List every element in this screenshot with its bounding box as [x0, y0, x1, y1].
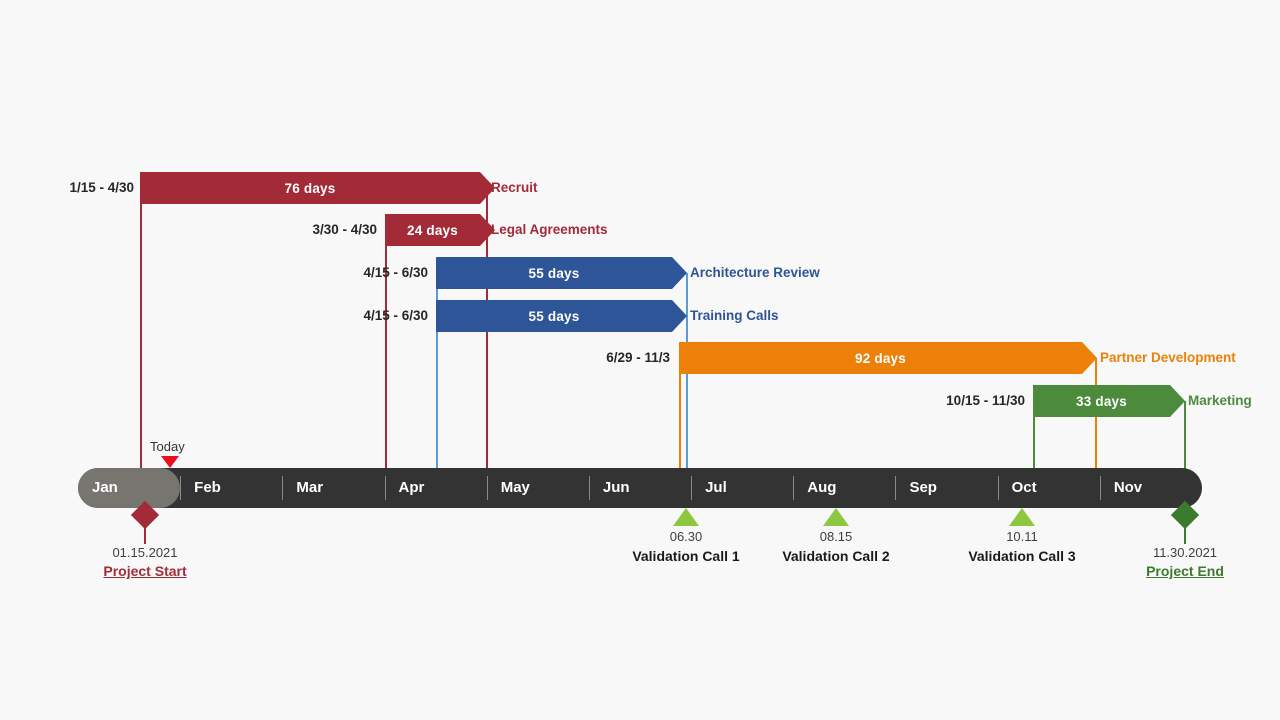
- milestone-triangle-icon: [673, 508, 699, 526]
- task-bar-arrow-icon: [1170, 385, 1185, 417]
- task-duration-label: 55 days: [529, 309, 580, 324]
- axis-month-feb[interactable]: Feb: [180, 468, 282, 508]
- task-duration-bar[interactable]: 55 days: [436, 300, 672, 332]
- task-duration-bar[interactable]: 92 days: [679, 342, 1082, 374]
- timeline-axis: JanFebMarAprMayJunJulAugSepOctNov: [78, 468, 1202, 508]
- axis-month-label: Apr: [399, 468, 425, 508]
- task-name-label: Recruit: [491, 172, 538, 204]
- gantt-chart-canvas: 1/15 - 4/3076 daysRecruit3/30 - 4/3024 d…: [0, 0, 1280, 720]
- task-bar-arrow-icon: [672, 257, 687, 289]
- milestone-date: 11.30.2021: [1095, 545, 1275, 560]
- today-triangle-icon: [161, 456, 179, 468]
- gantt-task-row[interactable]: 4/15 - 6/3055 daysTraining Calls: [0, 300, 1280, 332]
- gantt-task-row[interactable]: 4/15 - 6/3055 daysArchitecture Review: [0, 257, 1280, 289]
- task-date-range: 4/15 - 6/30: [348, 300, 428, 332]
- task-date-range: 10/15 - 11/30: [925, 385, 1025, 417]
- axis-month-aug[interactable]: Aug: [793, 468, 895, 508]
- task-duration-bar[interactable]: 55 days: [436, 257, 672, 289]
- axis-month-label: Jun: [603, 468, 630, 508]
- task-duration-label: 24 days: [407, 223, 458, 238]
- axis-month-oct[interactable]: Oct: [998, 468, 1100, 508]
- gantt-plot-area: 1/15 - 4/3076 daysRecruit3/30 - 4/3024 d…: [0, 0, 1280, 655]
- task-bar-arrow-icon: [672, 300, 687, 332]
- milestone-name: Validation Call 3: [932, 548, 1112, 564]
- task-date-range: 4/15 - 6/30: [348, 257, 428, 289]
- gantt-task-row[interactable]: 6/29 - 11/392 daysPartner Development: [0, 342, 1280, 374]
- axis-month-may[interactable]: May: [487, 468, 589, 508]
- axis-month-jun[interactable]: Jun: [589, 468, 691, 508]
- milestone-triangle-icon: [1009, 508, 1035, 526]
- task-start-connector-line: [1033, 417, 1035, 470]
- axis-month-label: Nov: [1114, 468, 1142, 508]
- task-name-label: Architecture Review: [690, 257, 820, 289]
- axis-month-jan[interactable]: Jan: [78, 468, 180, 508]
- task-bar-arrow-icon: [1082, 342, 1097, 374]
- axis-month-jul[interactable]: Jul: [691, 468, 793, 508]
- gantt-task-row[interactable]: 1/15 - 4/3076 daysRecruit: [0, 172, 1280, 204]
- axis-month-sep[interactable]: Sep: [895, 468, 997, 508]
- task-duration-bar[interactable]: 33 days: [1033, 385, 1170, 417]
- milestone-date: 01.15.2021: [55, 545, 235, 560]
- axis-month-label: Sep: [909, 468, 937, 508]
- task-date-range: 1/15 - 4/30: [60, 172, 134, 204]
- axis-month-apr[interactable]: Apr: [385, 468, 487, 508]
- axis-month-divider: [1100, 476, 1101, 500]
- axis-month-label: Feb: [194, 468, 221, 508]
- task-name-label: Partner Development: [1100, 342, 1236, 374]
- task-name-label: Marketing: [1188, 385, 1252, 417]
- task-duration-label: 76 days: [285, 181, 336, 196]
- task-name-label: Training Calls: [690, 300, 779, 332]
- milestone-date: 10.11: [932, 529, 1112, 544]
- axis-month-divider: [487, 476, 488, 500]
- task-date-range: 3/30 - 4/30: [297, 214, 377, 246]
- task-duration-label: 33 days: [1076, 394, 1127, 409]
- milestone-name: Project Start: [55, 563, 235, 579]
- milestone-name: Project End: [1095, 563, 1275, 579]
- axis-month-mar[interactable]: Mar: [282, 468, 384, 508]
- gantt-task-row[interactable]: 10/15 - 11/3033 daysMarketing: [0, 385, 1280, 417]
- axis-month-divider: [589, 476, 590, 500]
- axis-month-label: Mar: [296, 468, 323, 508]
- axis-month-divider: [895, 476, 896, 500]
- axis-month-divider: [180, 476, 181, 500]
- axis-month-label: Jul: [705, 468, 727, 508]
- task-name-label: Legal Agreements: [491, 214, 608, 246]
- today-label: Today: [150, 439, 185, 454]
- axis-month-divider: [691, 476, 692, 500]
- axis-month-divider: [793, 476, 794, 500]
- task-duration-bar[interactable]: 76 days: [140, 172, 480, 204]
- milestone-name: Validation Call 2: [746, 548, 926, 564]
- task-date-range: 6/29 - 11/3: [592, 342, 670, 374]
- axis-month-label: Jan: [92, 468, 118, 508]
- axis-month-divider: [385, 476, 386, 500]
- gantt-task-row[interactable]: 3/30 - 4/3024 daysLegal Agreements: [0, 214, 1280, 246]
- axis-month-divider: [998, 476, 999, 500]
- milestone-date: 08.15: [746, 529, 926, 544]
- task-duration-label: 55 days: [529, 266, 580, 281]
- axis-month-divider: [282, 476, 283, 500]
- task-duration-bar[interactable]: 24 days: [385, 214, 480, 246]
- task-duration-label: 92 days: [855, 351, 906, 366]
- axis-month-label: Aug: [807, 468, 836, 508]
- milestone-triangle-icon: [823, 508, 849, 526]
- axis-month-label: Oct: [1012, 468, 1037, 508]
- axis-month-label: May: [501, 468, 530, 508]
